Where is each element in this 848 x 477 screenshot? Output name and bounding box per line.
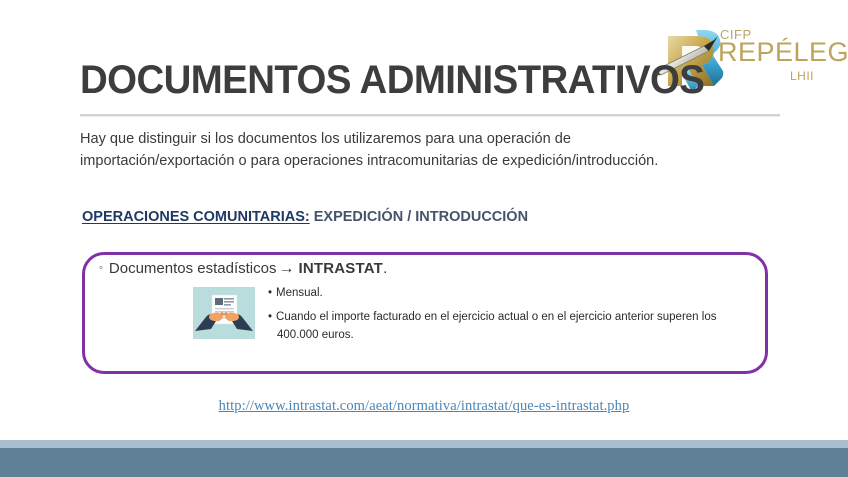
- list-item-text: Cuando el importe facturado en el ejerci…: [276, 311, 716, 340]
- intro-paragraph: Hay que distinguir si los documentos los…: [80, 128, 720, 172]
- footer-accent-bar: [0, 440, 848, 448]
- title-divider: [80, 114, 780, 117]
- section-heading-rest: EXPEDICIÓN / INTRODUCCIÓN: [310, 209, 528, 225]
- box-sub-bullet-list: •Mensual. •Cuando el importe facturado e…: [268, 285, 754, 351]
- logo-wordmark: CIFP REPÉLEGA LHII: [718, 24, 834, 94]
- box-main-bullet-suffix: .: [383, 260, 387, 277]
- logo-line-lhii: LHII: [790, 70, 814, 82]
- list-item: •Mensual.: [268, 285, 754, 302]
- page-title: DOCUMENTOS ADMINISTRATIVOS: [80, 60, 704, 100]
- section-heading-underlined: OPERACIONES COMUNITARIAS:: [82, 209, 310, 225]
- box-main-bullet: ◦Documentos estadísticos→INTRASTAT.: [99, 261, 387, 277]
- hands-holding-document-illustration: [193, 287, 255, 339]
- intrastat-keyword: INTRASTAT: [298, 260, 383, 277]
- intrastat-reference-link[interactable]: http://www.intrastat.com/aeat/normativa/…: [0, 398, 848, 415]
- arrow-right-icon: →: [278, 260, 294, 277]
- list-item: •Cuando el importe facturado en el ejerc…: [268, 309, 754, 344]
- list-item-text: Mensual.: [276, 287, 323, 299]
- footer-bar: [0, 448, 848, 477]
- bullet-dot-icon: •: [268, 311, 272, 323]
- box-main-bullet-text: Documentos estadísticos: [109, 260, 277, 277]
- intrastat-callout-box: ◦Documentos estadísticos→INTRASTAT.: [82, 252, 768, 374]
- slide-canvas: CIFP REPÉLEGA LHII DOCUMENTOS ADMINISTRA…: [0, 0, 848, 477]
- hollow-bullet-icon: ◦: [99, 262, 103, 274]
- section-heading: OPERACIONES COMUNITARIAS: EXPEDICIÓN / I…: [82, 210, 528, 225]
- logo-line-repelega: REPÉLEGA: [718, 39, 848, 66]
- bullet-dot-icon: •: [268, 287, 272, 299]
